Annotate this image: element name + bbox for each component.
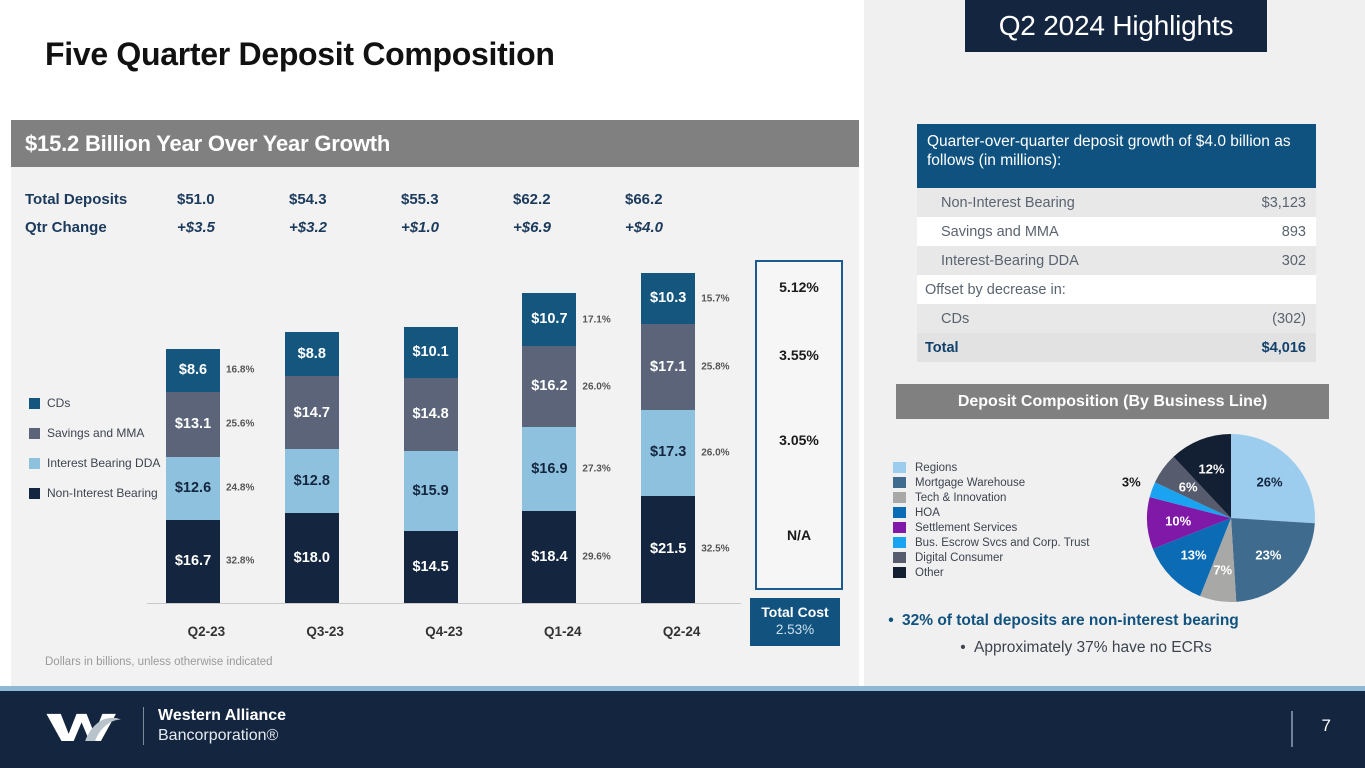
pie-legend-item[interactable]: Regions — [893, 460, 1089, 475]
legend-label: Interest Bearing DDA — [47, 456, 160, 470]
summary-cell: $51.0 — [177, 191, 289, 208]
pie-legend-item[interactable]: HOA — [893, 505, 1089, 520]
bar-segment[interactable]: $8.616.8% — [166, 349, 220, 392]
legend-label: Savings and MMA — [47, 426, 144, 440]
bar-segment-label: $14.5 — [412, 560, 448, 575]
summary-cell: +$6.9 — [513, 219, 625, 236]
bar-segment-label: $18.0 — [294, 551, 330, 566]
bar-segment-label: $16.2 — [531, 379, 567, 394]
growth-row: CDs(302) — [917, 304, 1316, 333]
highlights-title: Q2 2024 Highlights — [965, 0, 1267, 52]
bar-segment-percent: 32.8% — [226, 556, 254, 567]
bar-segment[interactable]: $10.315.7% — [641, 273, 695, 324]
bar-segment[interactable]: $16.927.3% — [522, 427, 576, 511]
total-cost-box: Total Cost 2.53% — [750, 598, 840, 646]
growth-row: Total$4,016 — [917, 333, 1316, 362]
bar-segment-label: $17.3 — [650, 445, 686, 460]
bar-segment[interactable]: $21.532.5% — [641, 496, 695, 603]
bar-segment-percent: 25.8% — [701, 361, 729, 372]
wa-logo-icon — [45, 708, 131, 744]
chart-banner: $15.2 Billion Year Over Year Growth — [11, 120, 859, 167]
x-axis-tick: Q1-24 — [503, 624, 622, 639]
pie-slice-label: 6% — [1179, 479, 1198, 494]
bar-segment[interactable]: $12.8 — [285, 449, 339, 513]
growth-row-label: Interest-Bearing DDA — [917, 253, 1282, 269]
pie-chart: 26%23%7%13%10%3%6%12% — [1142, 433, 1322, 603]
summary-row: Qtr Change+$3.5+$3.2+$1.0+$6.9+$4.0 — [25, 213, 805, 241]
bar-segment-label: $15.9 — [412, 484, 448, 499]
pie-legend-item[interactable]: Bus. Escrow Svcs and Corp. Trust — [893, 535, 1089, 550]
growth-row: Savings and MMA893 — [917, 217, 1316, 246]
summary-cell: $55.3 — [401, 191, 513, 208]
bar-segment[interactable]: $16.732.8% — [166, 520, 220, 603]
pie-legend-label: Settlement Services — [915, 522, 1017, 534]
summary-cell: +$3.2 — [289, 219, 401, 236]
summary-cell: +$4.0 — [625, 219, 737, 236]
pie-legend-label: Tech & Innovation — [915, 492, 1006, 504]
growth-row-label: CDs — [917, 311, 1272, 327]
pie-slice-label: 13% — [1181, 548, 1207, 563]
legend-label: Non-Interest Bearing — [47, 486, 158, 500]
growth-row-label: Total — [917, 340, 1262, 356]
summary-cell: $62.2 — [513, 191, 625, 208]
growth-heading: Quarter-over-quarter deposit growth of $… — [917, 124, 1316, 188]
chart-banner-label: $15.2 Billion Year Over Year Growth — [11, 131, 390, 157]
summary-row: Total Deposits$51.0$54.3$55.3$62.2$66.2 — [25, 185, 805, 213]
legend-swatch-icon — [29, 458, 40, 469]
bar-segment[interactable]: $15.9 — [404, 451, 458, 530]
legend-label: CDs — [47, 396, 70, 410]
bar-segment-percent: 15.7% — [701, 293, 729, 304]
bar-segment-percent: 26.0% — [582, 381, 610, 392]
growth-row-value: 302 — [1282, 253, 1316, 269]
bar-segment-percent: 25.6% — [226, 419, 254, 430]
summary-row-label: Total Deposits — [25, 191, 177, 208]
bar-segment-label: $10.1 — [412, 345, 448, 360]
pie-legend: RegionsMortgage WarehouseTech & Innovati… — [893, 460, 1089, 580]
bar-segment-label: $14.8 — [412, 407, 448, 422]
bar-segment-label: $12.8 — [294, 474, 330, 489]
bar-segment-label: $21.5 — [650, 542, 686, 557]
pie-legend-swatch-icon — [893, 552, 906, 563]
pie-legend-label: Digital Consumer — [915, 552, 1003, 564]
legend-swatch-icon — [29, 428, 40, 439]
bar-slot: $21.532.5%$17.326.0%$17.125.8%$10.315.7%… — [622, 273, 741, 603]
bar-segment[interactable]: $18.429.6% — [522, 511, 576, 603]
growth-row-value: (302) — [1272, 311, 1316, 327]
pie-legend-label: Regions — [915, 462, 957, 474]
left-pane: Five Quarter Deposit Composition $15.2 B… — [0, 0, 864, 686]
bar-group: $16.732.8%$12.624.8%$13.125.6%$8.616.8%Q… — [147, 273, 741, 603]
pie-slice-label: 12% — [1199, 461, 1225, 476]
legend-swatch-icon — [29, 398, 40, 409]
brand-name-line2: Bancorporation® — [158, 726, 286, 746]
bullet-list: • 32% of total deposits are non-interest… — [880, 612, 1350, 657]
avg-cost-cell: 3.55% — [757, 313, 841, 397]
bar-segment-label: $10.3 — [650, 291, 686, 306]
pie-legend-label: Bus. Escrow Svcs and Corp. Trust — [915, 537, 1089, 549]
growth-row-label: Savings and MMA — [917, 224, 1282, 240]
bar-segment-label: $16.7 — [175, 554, 211, 569]
bar-segment-percent: 27.3% — [582, 464, 610, 475]
growth-row-value: 893 — [1282, 224, 1316, 240]
bullet-secondary: • Approximately 37% have no ECRs — [880, 639, 1350, 657]
legend-swatch-icon — [29, 488, 40, 499]
bullet-primary: • 32% of total deposits are non-interest… — [880, 612, 1350, 630]
summary-cell: +$3.5 — [177, 219, 289, 236]
brand-logo: Western Alliance Bancorporation® — [45, 706, 286, 746]
pie-slice-label: 23% — [1255, 548, 1281, 563]
avg-cost-cell: 3.05% — [757, 397, 841, 482]
avg-costs-box: 5.12%3.55%3.05%N/A — [755, 260, 843, 590]
growth-row: Non-Interest Bearing$3,123 — [917, 188, 1316, 217]
bar-segment-label: $14.7 — [294, 406, 330, 421]
pie-legend-swatch-icon — [893, 507, 906, 518]
growth-row-label: Offset by decrease in: — [917, 282, 1306, 298]
bar-segment-percent: 16.8% — [226, 365, 254, 376]
bar-segment[interactable]: $14.7 — [285, 376, 339, 449]
summary-table: Total Deposits$51.0$54.3$55.3$62.2$66.2Q… — [25, 185, 805, 241]
bullet-dot-icon: • — [880, 612, 902, 630]
bar-segment-label: $16.9 — [531, 462, 567, 477]
logo-divider — [143, 707, 144, 745]
bar-segment[interactable]: $10.717.1% — [522, 293, 576, 346]
avg-cost-cell: 5.12% — [757, 262, 841, 313]
pie-legend-swatch-icon — [893, 477, 906, 488]
pie-slice-label: 7% — [1213, 563, 1232, 578]
bar-slot: $18.429.6%$16.927.3%$16.226.0%$10.717.1%… — [503, 273, 622, 603]
growth-row: Interest-Bearing DDA302 — [917, 246, 1316, 275]
legend-item[interactable]: Savings and MMA — [29, 418, 179, 448]
pie-legend-item[interactable]: Settlement Services — [893, 520, 1089, 535]
pie-legend-swatch-icon — [893, 462, 906, 473]
bar-segment[interactable]: $10.1 — [404, 327, 458, 377]
x-axis-tick: Q2-24 — [622, 624, 741, 639]
growth-row: Offset by decrease in: — [917, 275, 1316, 304]
pie-slice-label: 10% — [1165, 514, 1191, 529]
slide: Five Quarter Deposit Composition $15.2 B… — [0, 0, 1365, 768]
stacked-bar[interactable]: $14.5$15.9$14.8$10.1 — [404, 327, 458, 603]
pie-legend-swatch-icon — [893, 522, 906, 533]
bar-segment[interactable]: $18.0 — [285, 513, 339, 603]
page-number: 7 — [1322, 716, 1331, 736]
pie-banner: Deposit Composition (By Business Line) — [896, 384, 1329, 419]
legend-item[interactable]: Interest Bearing DDA — [29, 448, 179, 478]
bar-segment-percent: 29.6% — [582, 552, 610, 563]
footnote: Dollars in billions, unless otherwise in… — [45, 656, 273, 668]
growth-row-label: Non-Interest Bearing — [917, 195, 1262, 211]
total-cost-value: 2.53% — [750, 622, 840, 637]
growth-rows: Non-Interest Bearing$3,123Savings and MM… — [917, 188, 1316, 362]
bar-slot: $18.0$12.8$14.7$8.8Q3-23 — [266, 273, 385, 603]
summary-cell: +$1.0 — [401, 219, 513, 236]
pie-legend-label: HOA — [915, 507, 940, 519]
growth-row-value: $3,123 — [1262, 195, 1316, 211]
brand-name-line1: Western Alliance — [158, 706, 286, 726]
growth-card: Quarter-over-quarter deposit growth of $… — [917, 124, 1316, 361]
avg-cost-cell: N/A — [757, 482, 841, 588]
x-axis-tick: Q2-23 — [147, 624, 266, 639]
bar-segment[interactable]: $17.125.8% — [641, 324, 695, 409]
x-axis-line — [147, 603, 741, 604]
page-title: Five Quarter Deposit Composition — [45, 36, 555, 73]
bullet-dot-icon: • — [952, 639, 974, 657]
pie-legend-item[interactable]: Tech & Innovation — [893, 490, 1089, 505]
bullet-primary-text: 32% of total deposits are non-interest b… — [902, 612, 1239, 630]
pie-slice-label: 3% — [1122, 475, 1141, 490]
bar-segment-label: $13.1 — [175, 417, 211, 432]
x-axis-tick: Q3-23 — [266, 624, 385, 639]
pie-legend-label: Other — [915, 567, 944, 579]
bullet-secondary-text: Approximately 37% have no ECRs — [974, 639, 1212, 657]
stacked-bar[interactable]: $18.429.6%$16.927.3%$16.226.0%$10.717.1% — [522, 293, 576, 603]
bar-segment[interactable]: $8.8 — [285, 332, 339, 376]
pie-legend-swatch-icon — [893, 492, 906, 503]
bar-chart-legend: CDsSavings and MMAInterest Bearing DDANo… — [29, 388, 179, 508]
bar-segment-label: $12.6 — [175, 481, 211, 496]
bar-segment[interactable]: $16.226.0% — [522, 346, 576, 427]
bar-segment-percent: 26.0% — [701, 447, 729, 458]
stacked-bar[interactable]: $21.532.5%$17.326.0%$17.125.8%$10.315.7% — [641, 273, 695, 603]
page-number-divider — [1291, 711, 1293, 747]
pie-legend-swatch-icon — [893, 567, 906, 578]
bar-segment-percent: 32.5% — [701, 544, 729, 555]
bar-segment[interactable]: $14.8 — [404, 378, 458, 452]
bar-segment-label: $17.1 — [650, 360, 686, 375]
bar-segment[interactable]: $17.326.0% — [641, 410, 695, 496]
summary-cell: $66.2 — [625, 191, 737, 208]
bar-slot: $14.5$15.9$14.8$10.1Q4-23 — [385, 273, 504, 603]
total-cost-label: Total Cost — [750, 604, 840, 620]
bar-segment-label: $8.8 — [298, 347, 326, 362]
bar-segment-label: $18.4 — [531, 550, 567, 565]
bar-segment-percent: 24.8% — [226, 483, 254, 494]
pie-legend-label: Mortgage Warehouse — [915, 477, 1025, 489]
pie-legend-item[interactable]: Mortgage Warehouse — [893, 475, 1089, 490]
x-axis-tick: Q4-23 — [385, 624, 504, 639]
deposit-chart-card: $15.2 Billion Year Over Year Growth Tota… — [11, 120, 859, 686]
legend-item[interactable]: CDs — [29, 388, 179, 418]
pie-slice-label: 26% — [1257, 474, 1283, 489]
pie-legend-item[interactable]: Other — [893, 565, 1089, 580]
bar-segment-percent: 17.1% — [582, 314, 610, 325]
summary-cell: $54.3 — [289, 191, 401, 208]
bar-segment[interactable]: $14.5 — [404, 531, 458, 603]
stacked-bar[interactable]: $18.0$12.8$14.7$8.8 — [285, 332, 339, 603]
bar-segment-label: $8.6 — [179, 363, 207, 378]
pie-legend-item[interactable]: Digital Consumer — [893, 550, 1089, 565]
legend-item[interactable]: Non-Interest Bearing — [29, 478, 179, 508]
summary-row-label: Qtr Change — [25, 219, 177, 236]
growth-row-value: $4,016 — [1262, 340, 1316, 356]
pie-legend-swatch-icon — [893, 537, 906, 548]
bar-segment-label: $10.7 — [531, 312, 567, 327]
